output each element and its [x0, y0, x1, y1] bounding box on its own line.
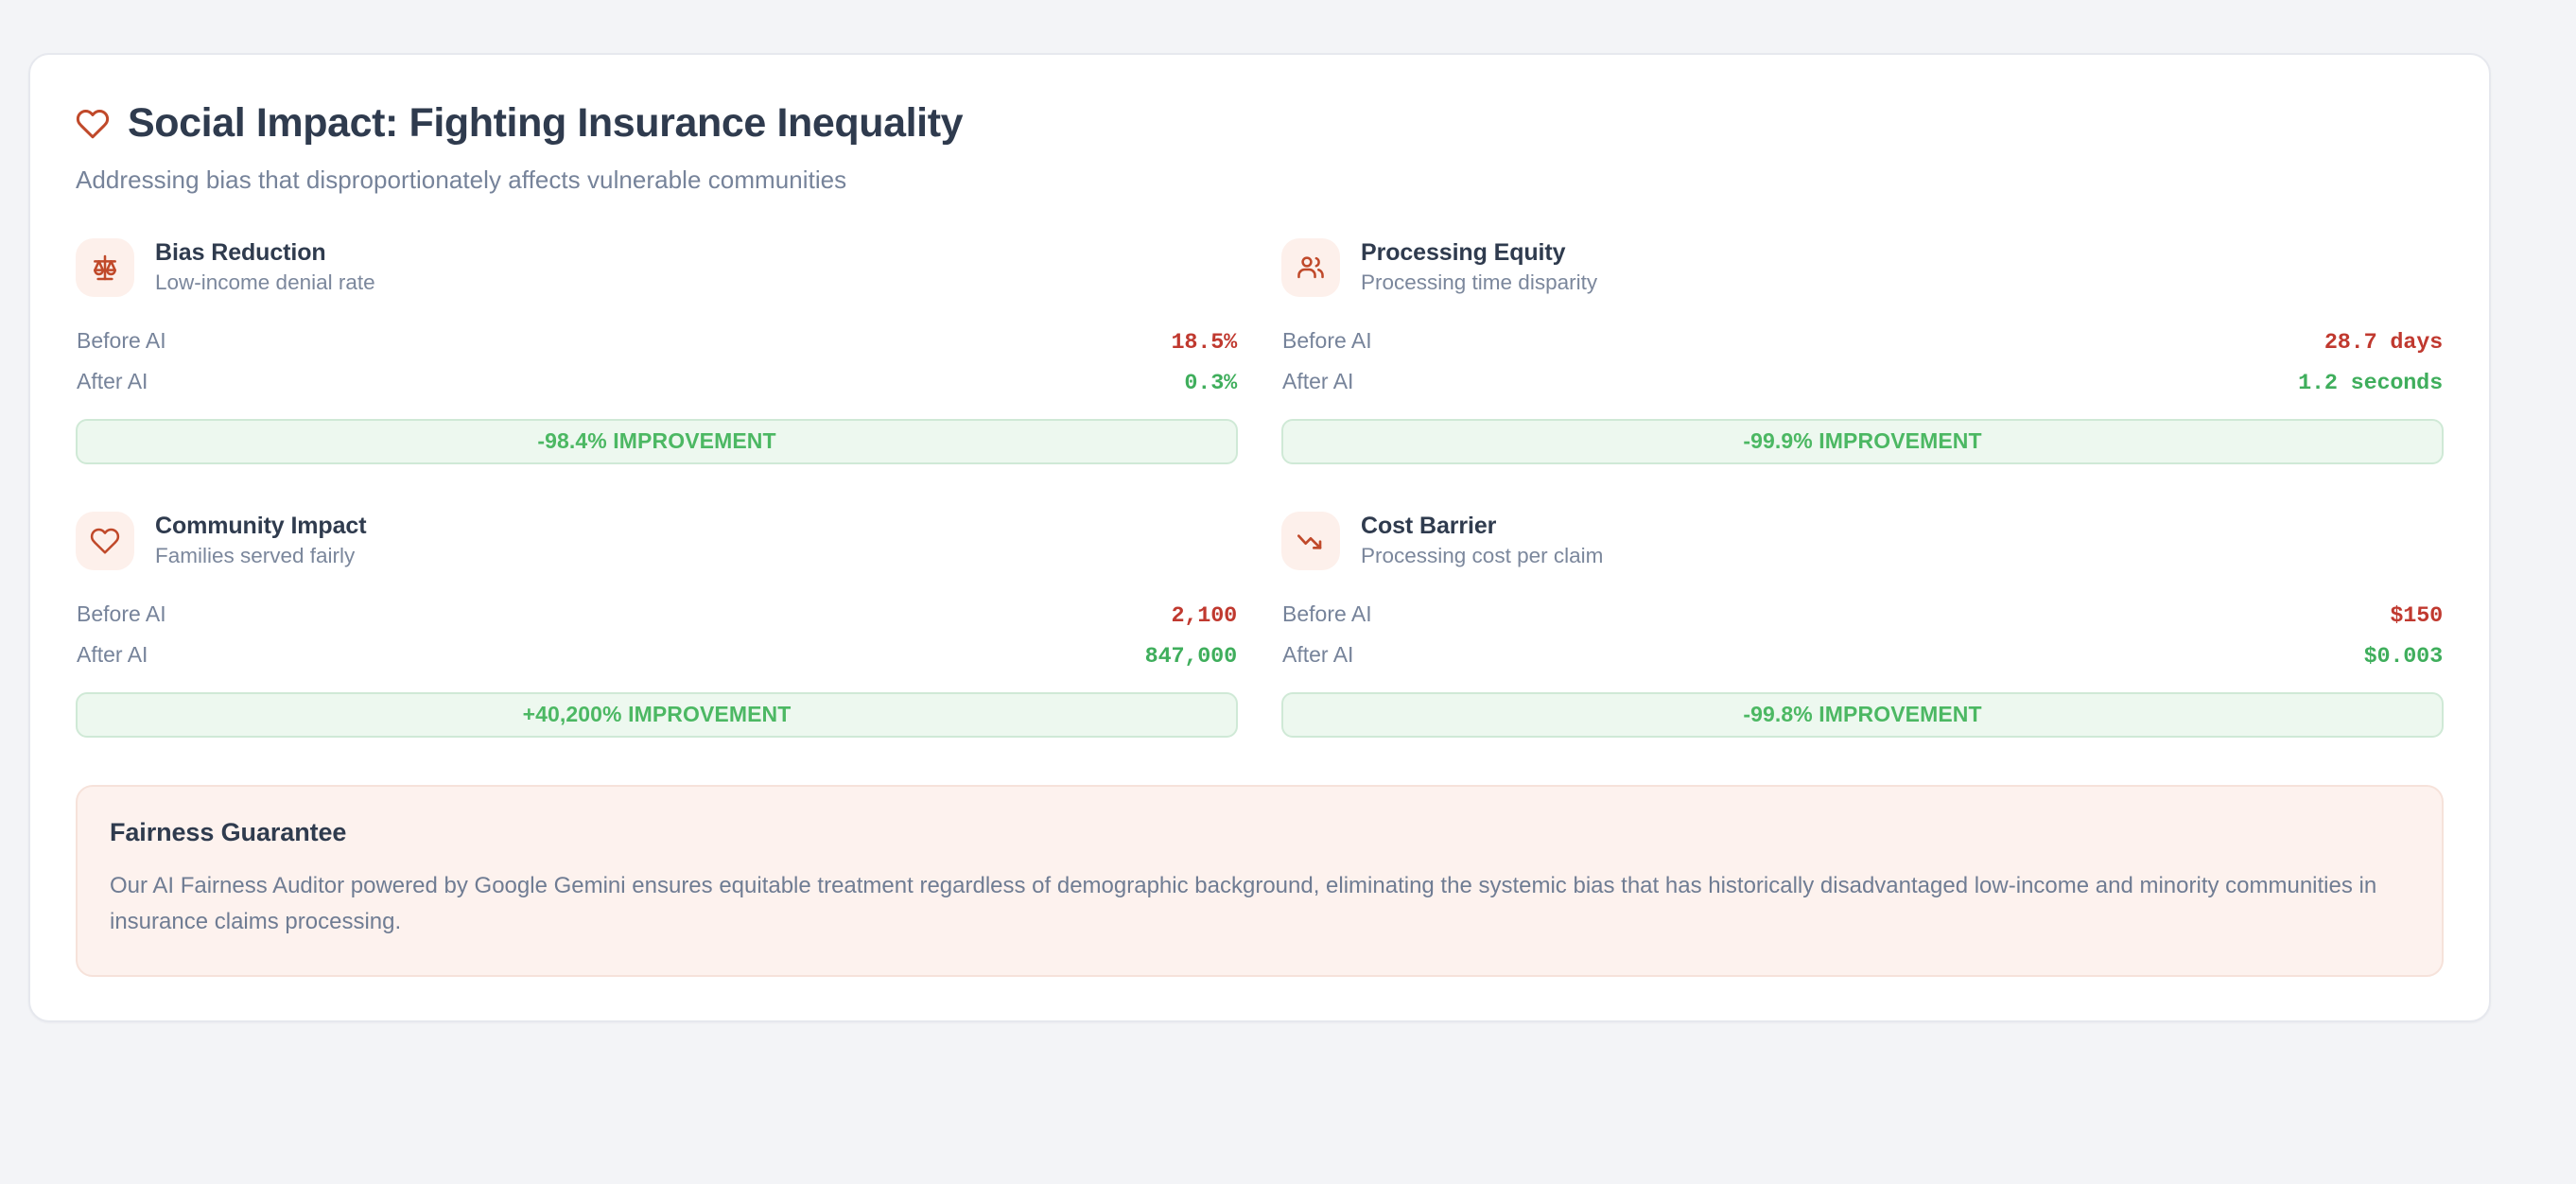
fairness-guarantee-title: Fairness Guarantee — [110, 818, 2410, 847]
scales-icon — [90, 252, 120, 283]
metric-row-after: After AI $0.003 — [1281, 636, 2444, 676]
after-value: $0.003 — [2364, 644, 2443, 670]
before-value: $150 — [2390, 603, 2443, 629]
metric-row-before: Before AI 2,100 — [76, 595, 1238, 636]
metric-name: Processing Equity — [1361, 240, 1597, 265]
metric-description: Families served fairly — [155, 545, 366, 567]
metric-icon-tile — [76, 238, 134, 297]
title-row: Social Impact: Fighting Insurance Inequa… — [76, 102, 963, 146]
metric-row-before: Before AI 18.5% — [76, 322, 1238, 362]
metric-card-bias-reduction: Bias Reduction Low-income denial rate Be… — [76, 238, 1238, 464]
social-impact-panel: Social Impact: Fighting Insurance Inequa… — [28, 53, 2491, 1022]
panel-header: Social Impact: Fighting Insurance Inequa… — [76, 96, 2444, 195]
metric-row-before: Before AI 28.7 days — [1281, 322, 2444, 362]
after-label: After AI — [1282, 642, 1353, 668]
fairness-guarantee-panel: Fairness Guarantee Our AI Fairness Audit… — [76, 785, 2444, 978]
metric-card-cost-barrier: Cost Barrier Processing cost per claim B… — [1281, 512, 2444, 738]
before-value: 28.7 days — [2324, 330, 2443, 356]
metric-icon-tile — [1281, 512, 1340, 570]
metric-name: Community Impact — [155, 514, 366, 538]
users-icon — [1296, 252, 1326, 283]
metric-rows: Before AI 2,100 After AI 847,000 — [76, 595, 1238, 676]
metric-titles: Cost Barrier Processing cost per claim — [1361, 514, 1603, 567]
metric-row-before: Before AI $150 — [1281, 595, 2444, 636]
metric-header: Community Impact Families served fairly — [76, 512, 1238, 570]
metric-rows: Before AI $150 After AI $0.003 — [1281, 595, 2444, 676]
heart-icon — [90, 526, 120, 556]
fairness-guarantee-text: Our AI Fairness Auditor powered by Googl… — [110, 868, 2410, 942]
after-value: 0.3% — [1184, 371, 1237, 396]
heart-icon — [76, 107, 110, 141]
after-value: 847,000 — [1145, 644, 1237, 670]
metric-icon-tile — [76, 512, 134, 570]
improvement-badge: -99.9% IMPROVEMENT — [1281, 419, 2444, 464]
before-label: Before AI — [1282, 601, 1372, 627]
before-value: 2,100 — [1171, 603, 1237, 629]
before-value: 18.5% — [1171, 330, 1237, 356]
page-subtitle: Addressing bias that disproportionately … — [76, 165, 846, 195]
metric-name: Bias Reduction — [155, 240, 375, 265]
metric-row-after: After AI 847,000 — [76, 636, 1238, 676]
after-label: After AI — [77, 369, 148, 394]
metric-card-community-impact: Community Impact Families served fairly … — [76, 512, 1238, 738]
metric-titles: Processing Equity Processing time dispar… — [1361, 240, 1597, 294]
improvement-badge: +40,200% IMPROVEMENT — [76, 692, 1238, 738]
improvement-badge: -99.8% IMPROVEMENT — [1281, 692, 2444, 738]
metric-titles: Bias Reduction Low-income denial rate — [155, 240, 375, 294]
metric-icon-tile — [1281, 238, 1340, 297]
before-label: Before AI — [77, 328, 166, 354]
metric-header: Processing Equity Processing time dispar… — [1281, 238, 2444, 297]
after-value: 1.2 seconds — [2298, 371, 2443, 396]
after-label: After AI — [1282, 369, 1353, 394]
page-root: Social Impact: Fighting Insurance Inequa… — [0, 0, 2576, 1184]
metric-description: Low-income denial rate — [155, 271, 375, 294]
before-label: Before AI — [1282, 328, 1372, 354]
metric-grid: Bias Reduction Low-income denial rate Be… — [76, 238, 2444, 738]
after-label: After AI — [77, 642, 148, 668]
metric-description: Processing cost per claim — [1361, 545, 1603, 567]
metric-row-after: After AI 0.3% — [76, 362, 1238, 403]
metric-header: Bias Reduction Low-income denial rate — [76, 238, 1238, 297]
metric-header: Cost Barrier Processing cost per claim — [1281, 512, 2444, 570]
page-title: Social Impact: Fighting Insurance Inequa… — [128, 102, 963, 146]
metric-card-processing-equity: Processing Equity Processing time dispar… — [1281, 238, 2444, 464]
metric-titles: Community Impact Families served fairly — [155, 514, 366, 567]
metric-rows: Before AI 18.5% After AI 0.3% — [76, 322, 1238, 403]
before-label: Before AI — [77, 601, 166, 627]
metric-row-after: After AI 1.2 seconds — [1281, 362, 2444, 403]
metric-name: Cost Barrier — [1361, 514, 1603, 538]
metric-description: Processing time disparity — [1361, 271, 1597, 294]
improvement-badge: -98.4% IMPROVEMENT — [76, 419, 1238, 464]
metric-rows: Before AI 28.7 days After AI 1.2 seconds — [1281, 322, 2444, 403]
trending-down-icon — [1296, 526, 1326, 556]
